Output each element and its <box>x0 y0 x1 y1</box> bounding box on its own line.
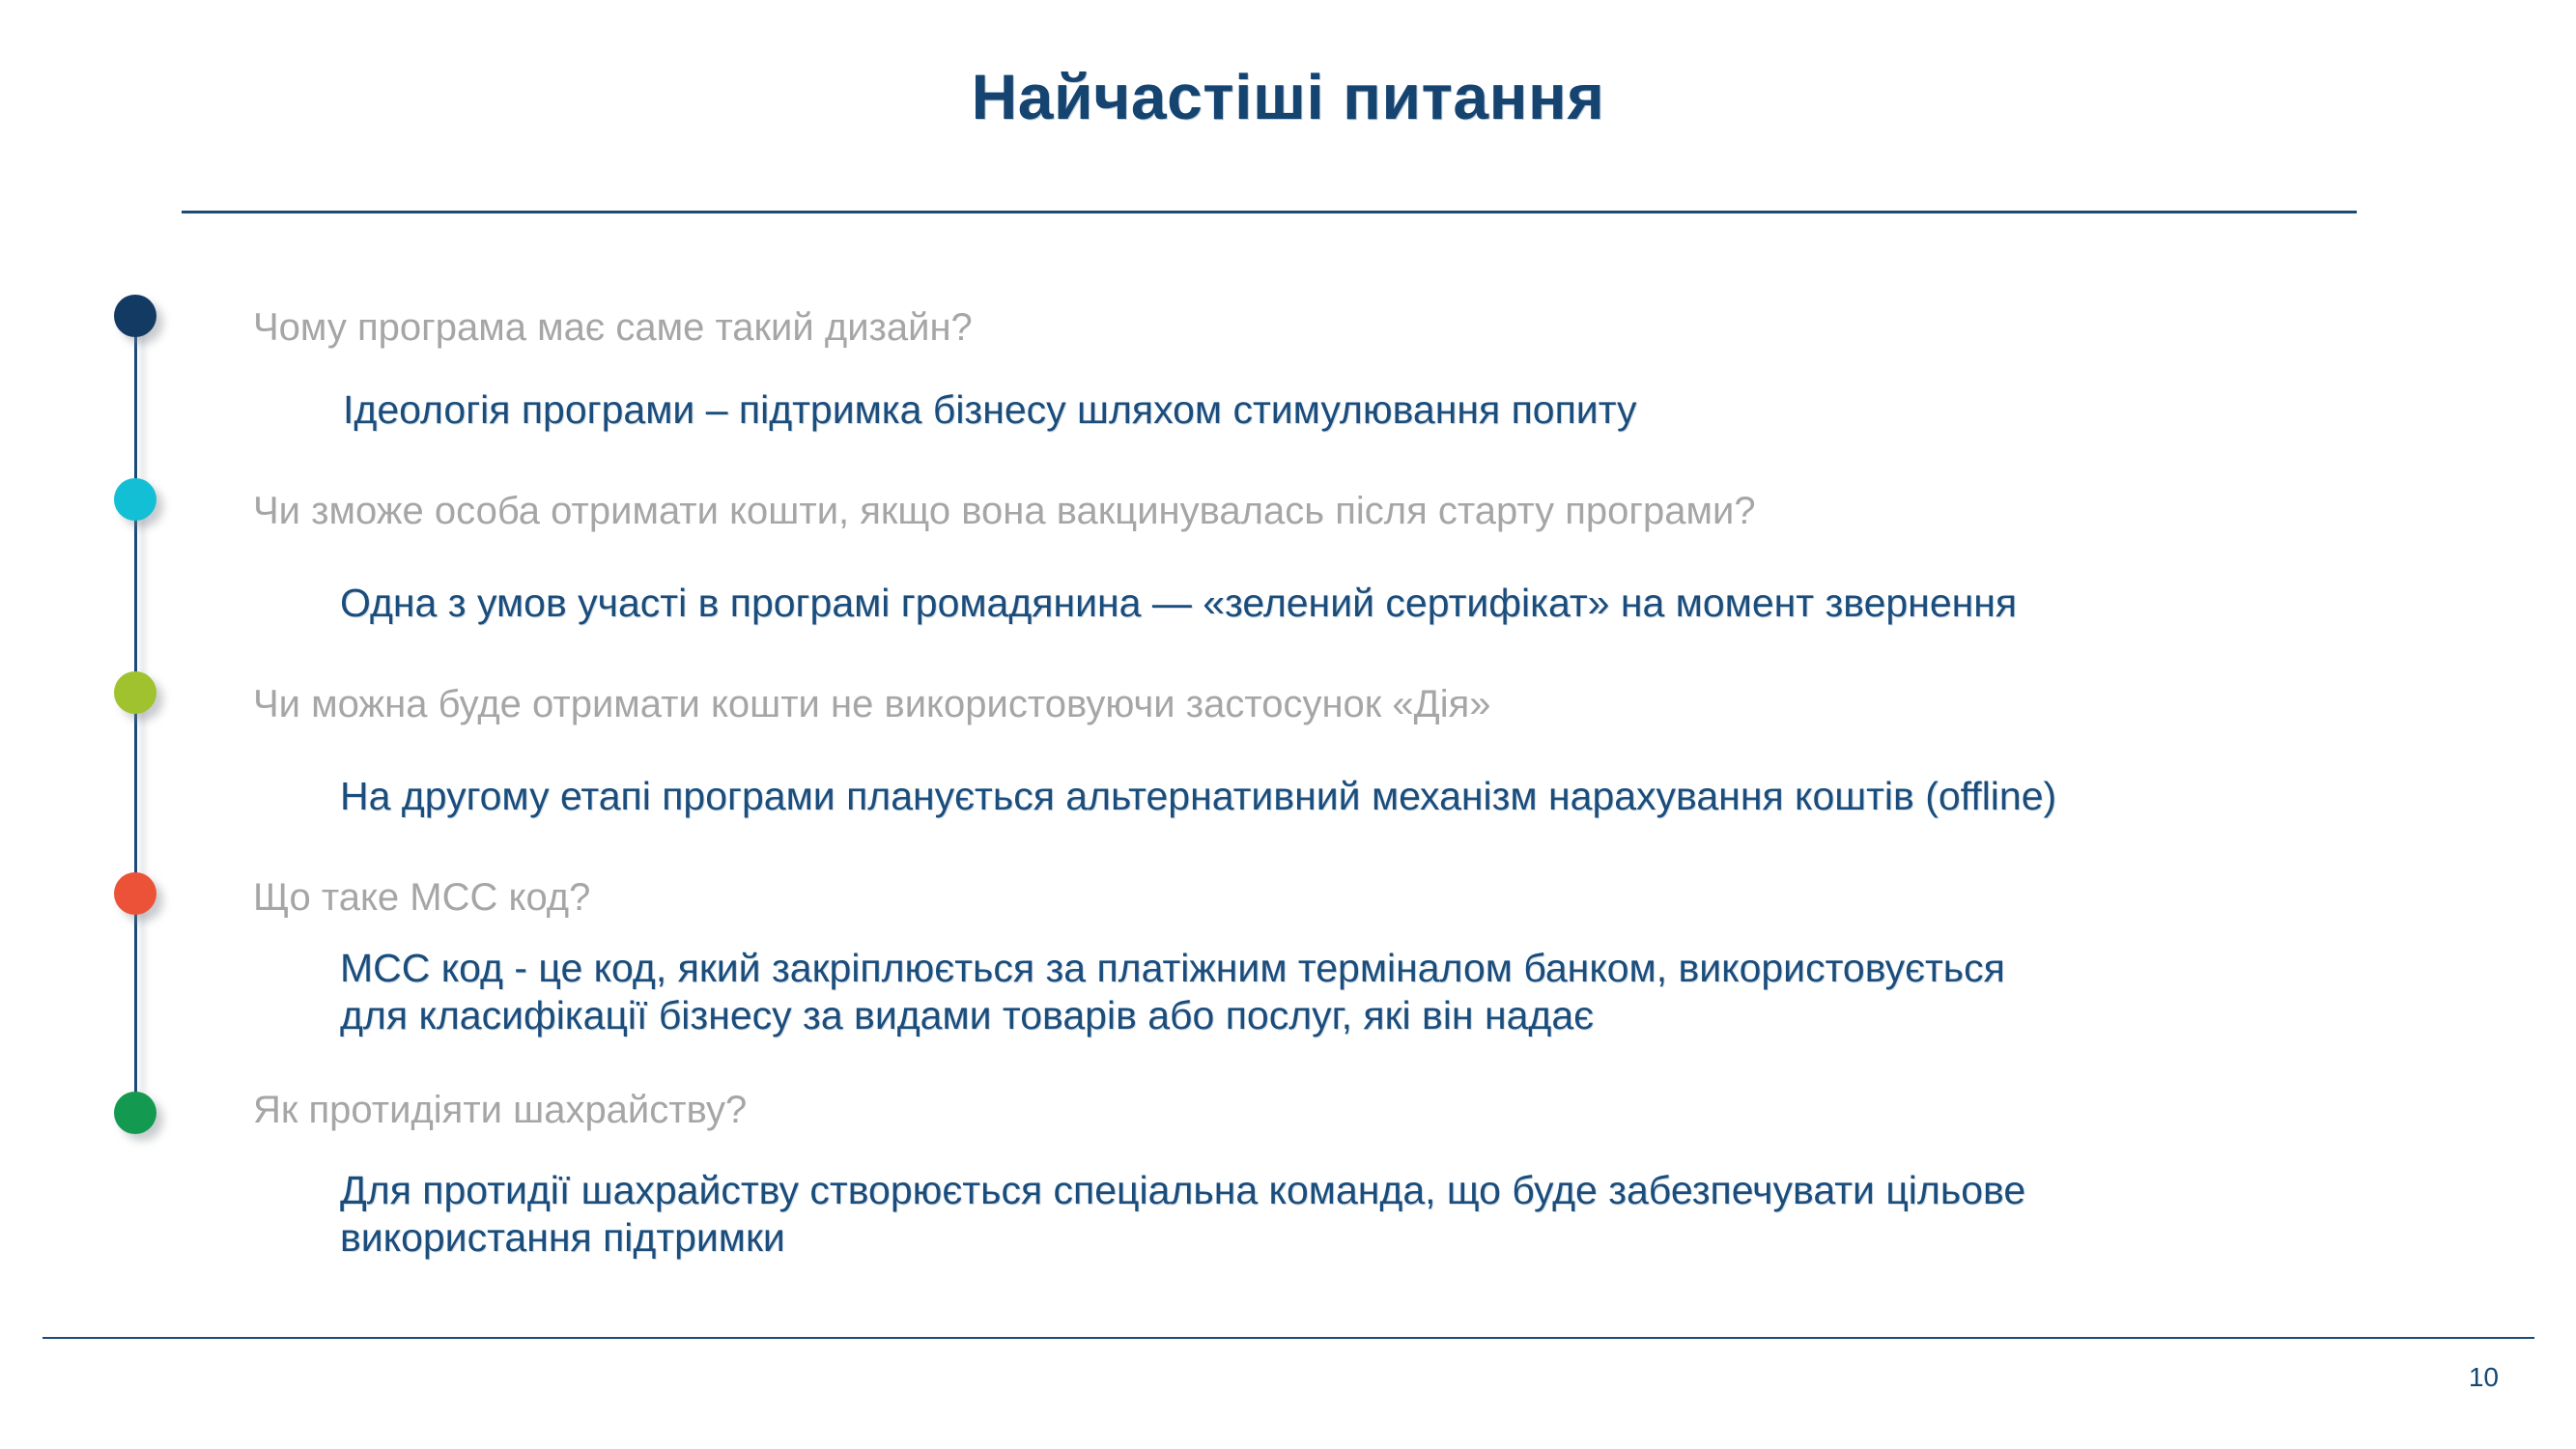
faq-question: Чому програма має саме такий дизайн? <box>253 307 973 348</box>
page-number: 10 <box>2469 1362 2499 1393</box>
faq-answer-line: використання підтримки <box>340 1214 2025 1262</box>
faq-answer: На другому етапі програми планується аль… <box>340 773 2056 820</box>
faq-answer: Ідеологія програми – підтримка бізнесу ш… <box>343 386 1636 434</box>
slide: Найчастіші питання Чому програма має сам… <box>0 0 2576 1449</box>
faq-question: Що таке MCC код? <box>253 877 590 918</box>
faq-answer-line: Одна з умов участі в програмі громадянин… <box>340 580 2017 627</box>
faq-answer-line: MCC код - це код, який закріплюється за … <box>340 945 2005 992</box>
faq-answer-line: На другому етапі програми планується аль… <box>340 773 2056 820</box>
faq-list: Чому програма має саме такий дизайн? Іде… <box>0 0 2576 1449</box>
faq-answer-line: для класифікації бізнесу за видами товар… <box>340 992 2005 1039</box>
faq-answer-line: Ідеологія програми – підтримка бізнесу ш… <box>343 386 1636 434</box>
faq-question: Чи зможе особа отримати кошти, якщо вона… <box>253 491 1756 531</box>
faq-question: Як протидіяти шахрайству? <box>253 1090 747 1130</box>
faq-question: Чи можна буде отримати кошти не використ… <box>253 684 1491 724</box>
footer-divider <box>42 1337 2534 1339</box>
faq-answer: Для протидії шахрайству створюється спец… <box>340 1167 2025 1262</box>
faq-answer: Одна з умов участі в програмі громадянин… <box>340 580 2017 627</box>
faq-answer: MCC код - це код, який закріплюється за … <box>340 945 2005 1039</box>
timeline-bullet-icon <box>114 295 156 337</box>
timeline-bullet-icon <box>114 872 156 915</box>
faq-answer-line: Для протидії шахрайству створюється спец… <box>340 1167 2025 1214</box>
timeline-bullet-icon <box>114 671 156 714</box>
timeline-bullet-icon <box>114 478 156 521</box>
timeline-bullet-icon <box>114 1092 156 1134</box>
